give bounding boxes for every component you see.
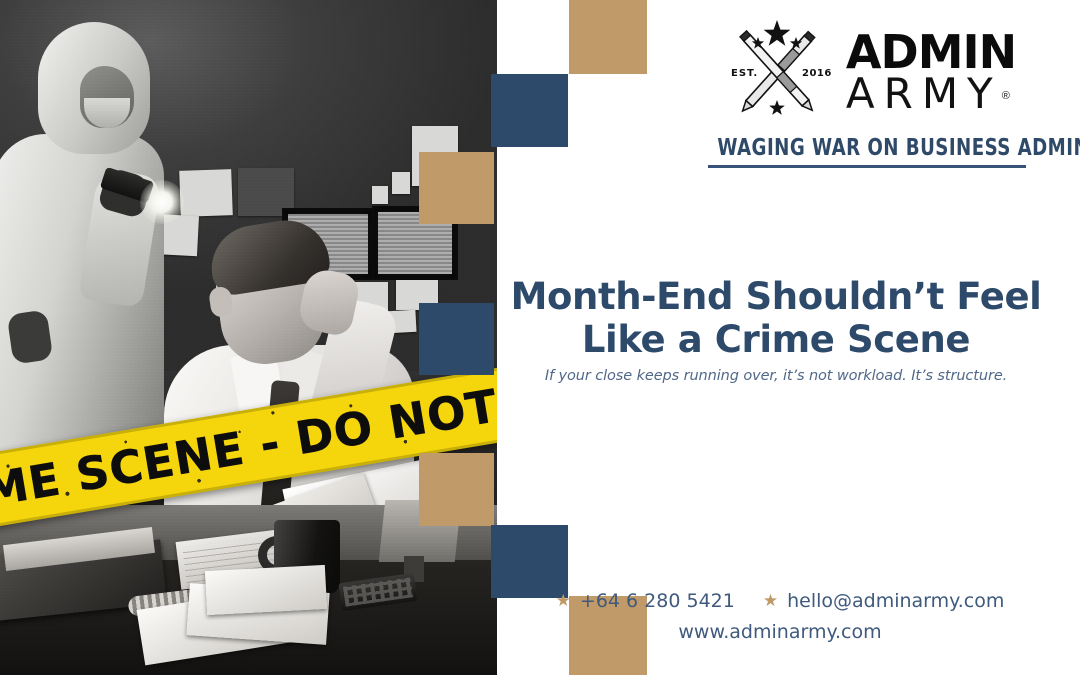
page-title: Month-End Shouldn’t Feel Like a Crime Sc… (497, 276, 1055, 361)
svg-text:EST.: EST. (731, 68, 758, 79)
brand-wordmark: ADMIN ARMY ® (846, 29, 1016, 115)
headline-line-2: Like a Crime Scene (497, 319, 1055, 362)
crossed-pens-emblem: EST. 2016 (718, 18, 836, 126)
svg-text:2016: 2016 (802, 68, 832, 79)
contact-email[interactable]: ★ hello@adminarmy.com (763, 590, 1004, 612)
contact-website[interactable]: www.adminarmy.com (497, 621, 1063, 643)
tagline-underline (708, 165, 1026, 168)
contact-phone-label: +64 6 280 5421 (580, 590, 735, 612)
star-icon: ★ (556, 593, 571, 610)
brand-logo: EST. 2016 ADMIN ARMY ® WAGING WAR ON BUS… (697, 18, 1037, 168)
page-subtitle: If your close keeps running over, it’s n… (497, 368, 1055, 384)
content-column: EST. 2016 ADMIN ARMY ® WAGING WAR ON BUS… (497, 0, 1080, 675)
contact-email-label: hello@adminarmy.com (787, 590, 1004, 612)
tan-square-mid-left (419, 152, 494, 224)
crossed-pens-icon: EST. 2016 (718, 18, 836, 126)
brand-name-army: ARMY (846, 73, 1002, 115)
poster-canvas: ME SCENE - DO NOT CROSS CR (0, 0, 1080, 675)
star-icon: ★ (763, 593, 778, 610)
tan-square-lower-left (419, 453, 494, 526)
brand-tagline: WAGING WAR ON BUSINESS ADMIN (717, 135, 1016, 161)
navy-square-mid (419, 303, 494, 375)
contact-block: ★ +64 6 280 5421 ★ hello@adminarmy.com w… (497, 590, 1063, 643)
contact-phone[interactable]: ★ +64 6 280 5421 (556, 590, 735, 612)
registered-mark: ® (1002, 91, 1010, 102)
headline-line-1: Month-End Shouldn’t Feel (511, 275, 1042, 318)
